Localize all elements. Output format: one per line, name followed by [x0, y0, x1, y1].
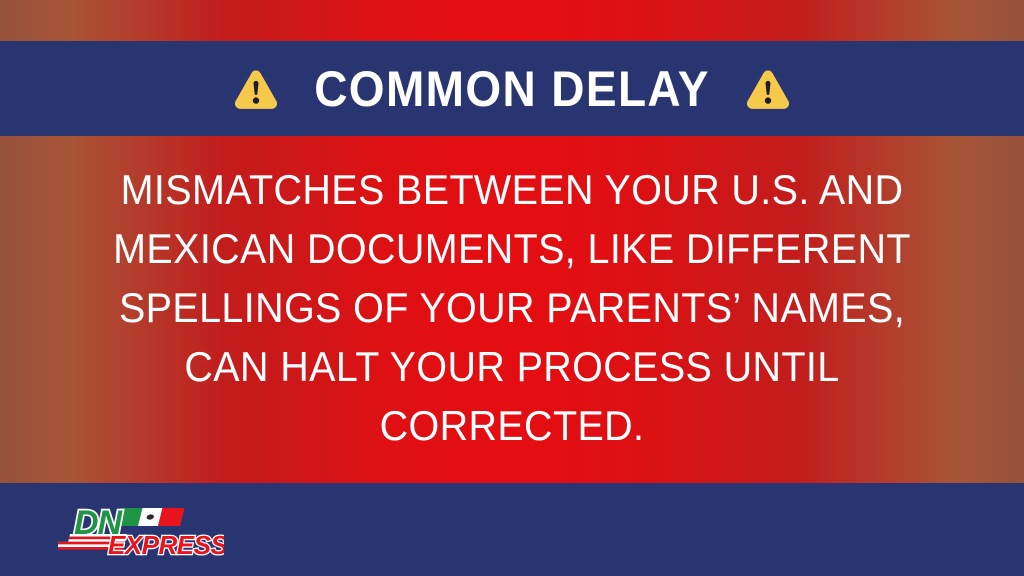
body-line: CAN HALT YOUR PROCESS UNTIL: [89, 337, 935, 396]
page-title: COMMON DELAY: [314, 64, 710, 114]
body-line: MISMATCHES BETWEEN YOUR U.S. AND: [89, 160, 935, 219]
body-line: SPELLINGS OF YOUR PARENTS’ NAMES,: [89, 278, 935, 337]
body-line: MEXICAN DOCUMENTS, LIKE DIFFERENT: [89, 219, 935, 278]
svg-text:EXPRESS: EXPRESS: [108, 530, 224, 560]
warning-triangle-icon: [745, 66, 791, 112]
mexican-flag-mark: [116, 508, 184, 526]
header-banner: COMMON DELAY: [0, 41, 1024, 136]
logo-secondary-text: EXPRESS: [108, 530, 224, 560]
body-message: MISMATCHES BETWEEN YOUR U.S. AND MEXICAN…: [89, 160, 935, 455]
dn-express-logo: DN EXPRESS: [58, 494, 224, 560]
body-line: CORRECTED.: [89, 396, 935, 455]
slide-canvas: COMMON DELAY MISMATCHES BETWEEN YOUR U.S…: [0, 0, 1024, 576]
warning-triangle-icon: [233, 66, 279, 112]
